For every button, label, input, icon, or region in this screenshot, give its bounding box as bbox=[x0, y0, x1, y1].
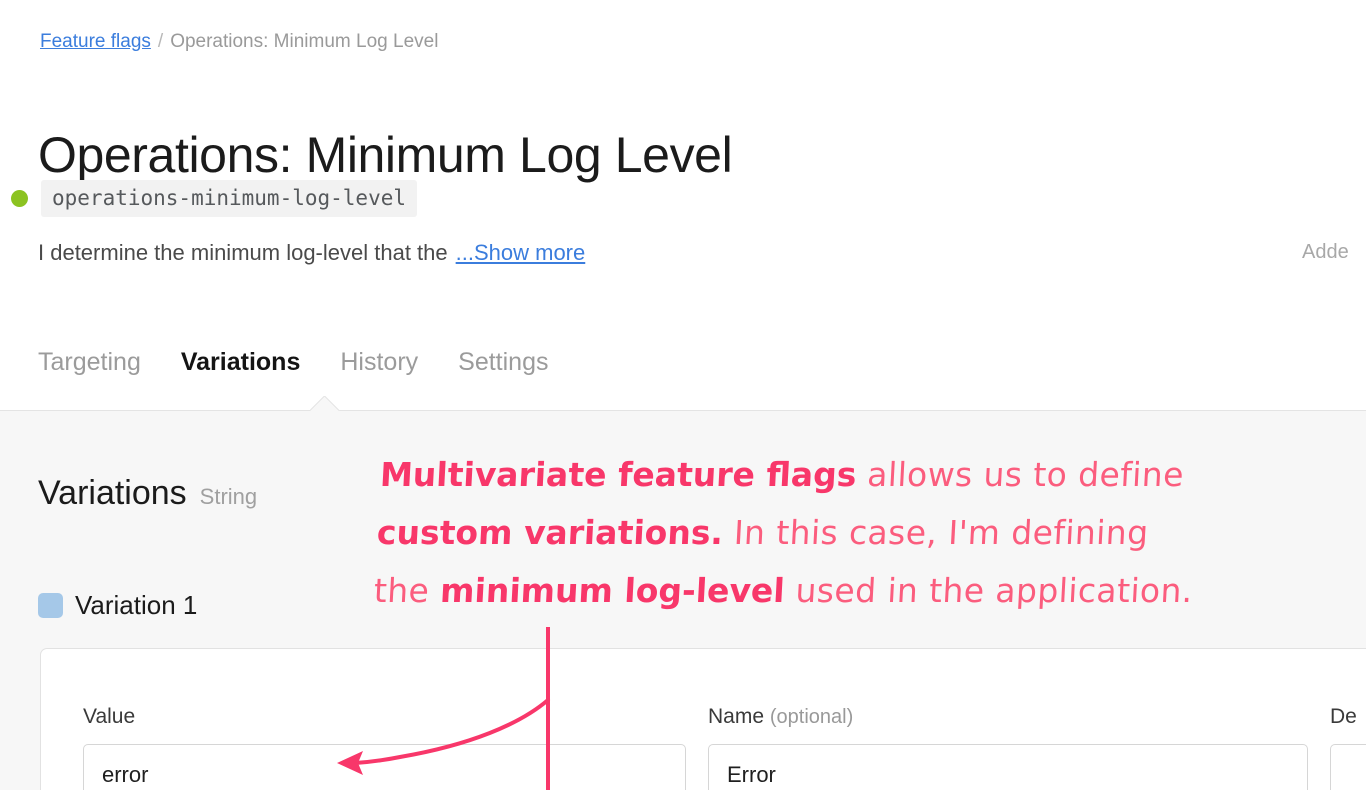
flag-key[interactable]: operations-minimum-log-level bbox=[41, 180, 417, 217]
value-input[interactable] bbox=[83, 744, 686, 790]
page-title: Operations: Minimum Log Level bbox=[38, 126, 732, 184]
name-field-optional-hint: (optional) bbox=[770, 706, 853, 728]
value-field-label: Value bbox=[83, 704, 686, 730]
flag-tabs: Targeting Variations History Settings bbox=[38, 345, 549, 381]
annotation-line-3: the minimum log-level used in the applic… bbox=[372, 562, 1285, 620]
annotation-line-3-emphasis: minimum log-level bbox=[439, 571, 786, 610]
handwritten-annotation: Multivariate feature flags allows us to … bbox=[372, 446, 1291, 620]
name-field-label-text: Name bbox=[708, 705, 764, 728]
tab-settings[interactable]: Settings bbox=[458, 345, 548, 381]
breadcrumb-link-feature-flags[interactable]: Feature flags bbox=[40, 31, 151, 52]
value-field-group: Value bbox=[83, 704, 686, 790]
annotation-line-2-rest: In this case, I'm defining bbox=[722, 513, 1149, 552]
variation-1-card: Value Name (optional) De bbox=[40, 648, 1366, 790]
breadcrumb: Feature flags/Operations: Minimum Log Le… bbox=[40, 30, 438, 54]
annotation-line-1-rest: allows us to define bbox=[855, 455, 1184, 494]
description-field-group: De bbox=[1330, 704, 1366, 790]
variation-name-label: Variation 1 bbox=[75, 589, 197, 621]
tab-history[interactable]: History bbox=[340, 345, 418, 381]
annotation-line-2: custom variations. In this case, I'm def… bbox=[375, 504, 1288, 562]
breadcrumb-current: Operations: Minimum Log Level bbox=[170, 31, 438, 52]
annotation-line-3-rest: used in the application. bbox=[784, 571, 1194, 610]
annotation-line-3-prefix: the bbox=[373, 571, 441, 610]
variations-heading-label: Variations bbox=[38, 473, 187, 513]
flag-enabled-indicator-icon bbox=[11, 190, 28, 207]
breadcrumb-separator: / bbox=[151, 31, 170, 52]
description-field-label: De bbox=[1330, 704, 1366, 730]
flag-detail-screen: Feature flags/Operations: Minimum Log Le… bbox=[0, 0, 1366, 790]
show-more-link[interactable]: ...Show more bbox=[456, 240, 586, 265]
active-tab-caret-icon bbox=[310, 396, 340, 411]
variation-type-label: String bbox=[200, 483, 257, 511]
variations-heading: Variations String bbox=[38, 473, 257, 513]
name-input[interactable] bbox=[708, 744, 1308, 790]
annotation-line-1-emphasis: Multivariate feature flags bbox=[379, 455, 857, 494]
name-field-group: Name (optional) bbox=[708, 704, 1308, 790]
description-input[interactable] bbox=[1330, 744, 1366, 790]
annotation-line-2-emphasis: custom variations. bbox=[376, 513, 724, 552]
variation-1-header: Variation 1 bbox=[38, 589, 197, 621]
flag-description: I determine the minimum log-level that t… bbox=[38, 238, 585, 268]
variation-field-grid: Value Name (optional) De bbox=[83, 704, 1366, 790]
tab-variations[interactable]: Variations bbox=[181, 345, 301, 381]
name-field-label: Name (optional) bbox=[708, 704, 1308, 730]
variation-color-swatch-icon[interactable] bbox=[38, 593, 63, 618]
flag-added-meta: Adde bbox=[1302, 238, 1349, 266]
annotation-line-1: Multivariate feature flags allows us to … bbox=[379, 446, 1292, 504]
flag-key-row: operations-minimum-log-level bbox=[11, 180, 417, 217]
tab-targeting[interactable]: Targeting bbox=[38, 345, 141, 381]
flag-description-text: I determine the minimum log-level that t… bbox=[38, 240, 448, 265]
